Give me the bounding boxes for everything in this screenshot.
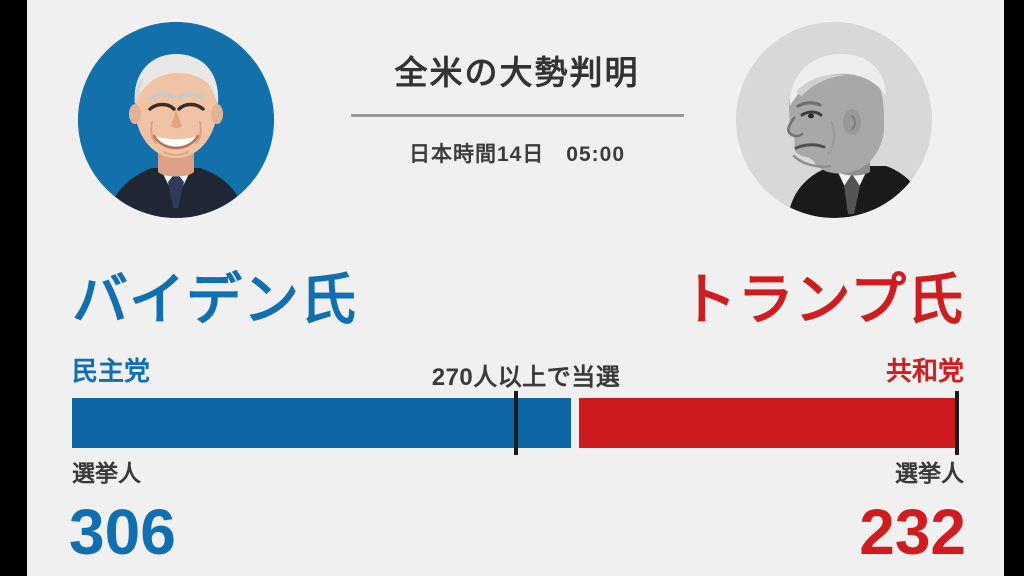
infographic-frame: 全米の大勢判明 日本時間14日 05:00 bbox=[0, 0, 1024, 576]
letterbox-right bbox=[1004, 0, 1024, 576]
candidate-name-left: バイデン氏 bbox=[72, 272, 357, 328]
bar-segment-left bbox=[72, 398, 571, 448]
trump-portrait bbox=[736, 22, 932, 218]
bar-segment-right bbox=[579, 398, 957, 448]
header: 全米の大勢判明 日本時間14日 05:00 bbox=[322, 55, 712, 168]
total-label-left: 選挙人 bbox=[72, 462, 141, 485]
total-value-right: 232 bbox=[859, 500, 966, 564]
threshold-label: 270人以上で当選 bbox=[401, 357, 651, 392]
bar-end-tick bbox=[955, 391, 959, 455]
content-stage: 全米の大勢判明 日本時間14日 05:00 bbox=[27, 0, 1004, 576]
candidate-party-right: 共和党 bbox=[886, 358, 964, 384]
total-value-left: 306 bbox=[69, 500, 176, 564]
electoral-vote-bar bbox=[72, 398, 957, 448]
total-label-right: 選挙人 bbox=[895, 462, 964, 485]
page-title: 全米の大勢判明 bbox=[322, 55, 712, 91]
header-divider bbox=[351, 114, 684, 117]
timestamp: 日本時間14日 05:00 bbox=[322, 138, 712, 168]
candidate-name-right: トランプ氏 bbox=[681, 272, 964, 328]
candidate-party-left: 民主党 bbox=[72, 358, 150, 384]
threshold-marker-tick bbox=[514, 391, 518, 455]
letterbox-left bbox=[0, 0, 27, 576]
biden-portrait bbox=[78, 22, 274, 218]
